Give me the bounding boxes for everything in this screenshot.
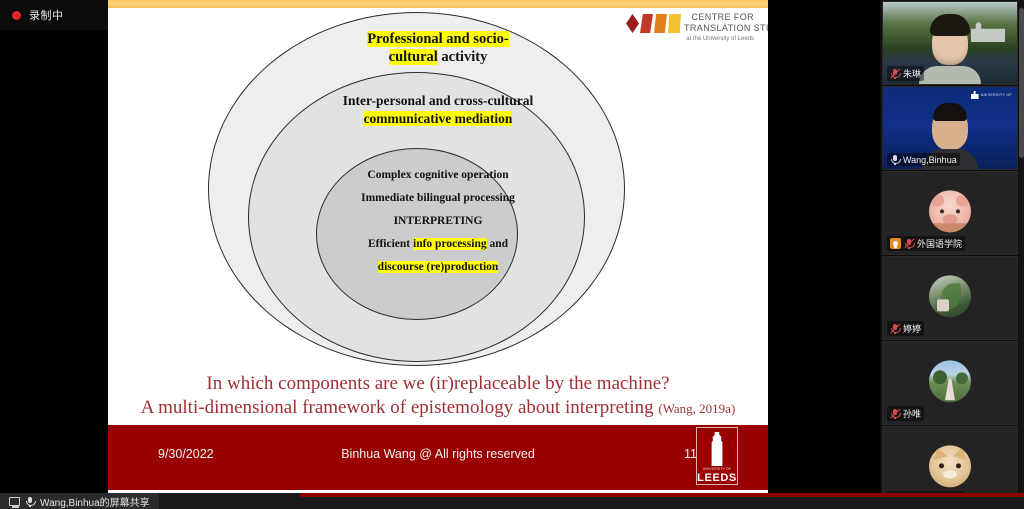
university-watermark: UNIVERSITY OF — [971, 91, 1012, 99]
participant-name: 婷婷 — [903, 322, 921, 335]
participant-badge: Wang,Binhua — [887, 153, 960, 166]
caption-line-2-text: A multi-dimensional framework of epistem… — [141, 397, 659, 418]
ring-inner-line4c: and — [487, 238, 508, 250]
leeds-logo-name: LEEDS — [697, 472, 737, 484]
ring-middle-text: Inter-personal and cross-cultural commun… — [108, 92, 768, 128]
participant-hair — [930, 14, 970, 36]
presentation-slide: CENTRE FOR TRANSLATION STUDIES at the Un… — [108, 0, 768, 493]
ring-inner-line2: Immediate bilingual processing — [361, 192, 515, 204]
avatar — [929, 445, 971, 487]
participant-name: Wang,Binhua — [903, 155, 957, 165]
participant-scrollbar[interactable] — [1019, 0, 1024, 493]
record-dot-icon — [12, 11, 21, 20]
university-watermark-text: UNIVERSITY OF — [981, 93, 1012, 97]
leeds-tower-icon — [710, 432, 725, 466]
concentric-rings-diagram: Professional and socio- cultural activit… — [108, 8, 768, 368]
slide-caption: In which components are we (ir)replaceab… — [108, 372, 768, 421]
screen-share-taskbar-item[interactable]: Wang,Binhua的屏幕共享 — [0, 493, 159, 509]
participant-badge: 孙唯 — [887, 406, 924, 421]
participant-tile[interactable]: 孙唯 — [882, 341, 1018, 425]
recording-indicator: 录制中 — [0, 0, 108, 30]
participant-video-strip[interactable]: 朱琳 UNIVERSITY OF Wang,Binhua 外国语学院 婷婷 — [880, 0, 1024, 493]
ring-outer-line1: Professional and socio- — [367, 31, 509, 47]
recording-label: 录制中 — [29, 7, 64, 23]
taskbar-accent-strip — [300, 493, 1024, 497]
ring-inner-line4b: info processing — [413, 238, 487, 250]
participant-name: 孙唯 — [903, 407, 921, 420]
microphone-muted-icon — [890, 68, 900, 79]
participant-tile[interactable]: 朱琳 — [882, 1, 1018, 85]
avatar — [929, 275, 971, 317]
participant-hair — [933, 103, 967, 121]
caption-citation: (Wang, 2019a) — [658, 401, 735, 416]
caption-line-1: In which components are we (ir)replaceab… — [108, 372, 768, 396]
microphone-icon — [25, 496, 35, 507]
footer-copyright: Binhua Wang @ All rights reserved — [108, 447, 768, 461]
participant-name: 外国语学院 — [917, 237, 962, 250]
ring-middle-line2: communicative mediation — [364, 111, 513, 126]
leeds-tower-icon — [971, 91, 979, 99]
participant-body — [919, 66, 981, 84]
participant-tile[interactable]: 外国语学院 — [882, 171, 1018, 255]
abbey-background-icon — [971, 20, 1005, 42]
slide-footer: 9/30/2022 Binhua Wang @ All rights reser… — [108, 425, 768, 490]
ring-middle-line1: Inter-personal and cross-cultural — [343, 93, 534, 108]
participant-badge: 外国语学院 — [887, 236, 965, 251]
participant-scrollbar-thumb[interactable] — [1019, 8, 1024, 158]
microphone-muted-icon — [904, 238, 914, 249]
participant-badge: 婷婷 — [887, 321, 924, 336]
participant-tile[interactable]: 22学硕 颜丹丹 — [882, 426, 1018, 493]
microphone-muted-icon — [890, 323, 900, 334]
ring-outer-text: Professional and socio- cultural activit… — [108, 30, 768, 66]
microphone-muted-icon — [890, 408, 900, 419]
screen-share-label: Wang,Binhua的屏幕共享 — [40, 494, 150, 509]
ring-outer-line2b: activity — [438, 49, 488, 65]
ring-inner-text: Complex cognitive operation Immediate bi… — [108, 164, 768, 279]
ring-inner-line3: INTERPRETING — [394, 215, 483, 227]
screen-share-icon — [9, 497, 20, 506]
host-badge-icon — [890, 238, 901, 249]
microphone-icon — [890, 154, 900, 165]
shared-screen-stage[interactable]: CENTRE FOR TRANSLATION STUDIES at the Un… — [0, 0, 880, 493]
avatar — [929, 190, 971, 232]
ring-inner-line4a: Efficient — [368, 238, 413, 250]
participant-tile[interactable]: 婷婷 — [882, 256, 1018, 340]
slide-accent-bar — [108, 0, 768, 8]
ring-outer-line2a: cultural — [389, 49, 438, 65]
ring-inner-line1: Complex cognitive operation — [367, 169, 508, 181]
avatar — [929, 360, 971, 402]
taskbar: Wang,Binhua的屏幕共享 — [0, 493, 1024, 509]
participant-tile[interactable]: UNIVERSITY OF Wang,Binhua — [882, 86, 1018, 170]
participant-name: 朱琳 — [903, 67, 921, 80]
caption-line-2: A multi-dimensional framework of epistem… — [108, 396, 768, 421]
leeds-logo: UNIVERSITY OF LEEDS — [696, 427, 738, 485]
ring-inner-line5: discourse (re)production — [378, 261, 499, 273]
participant-badge: 朱琳 — [887, 66, 924, 81]
